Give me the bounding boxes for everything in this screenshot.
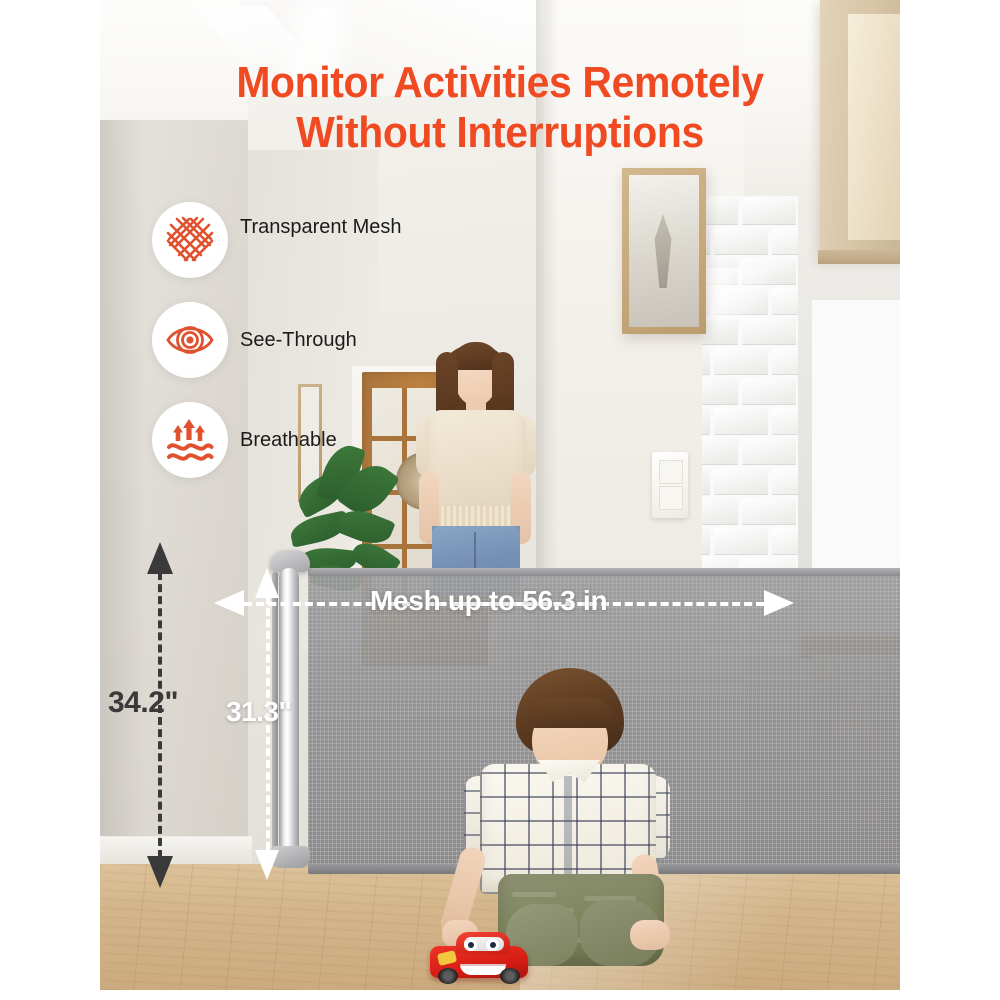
dimension-mesh-height-label: 31.3" xyxy=(226,696,291,728)
feature-breathable: Breathable xyxy=(152,402,412,502)
arrow-left-icon xyxy=(214,590,244,616)
woman-standing xyxy=(400,330,550,595)
boy-sitting xyxy=(420,668,720,968)
dimension-total-height-label: 34.2" xyxy=(108,686,178,720)
tile-gloss-highlight xyxy=(702,268,798,320)
mesh-grid-icon xyxy=(152,202,228,278)
product-marketing-image: Monitor Activities Remotely Without Inte… xyxy=(0,0,1000,1000)
feature-transparent-mesh: Transparent Mesh xyxy=(152,202,412,302)
arrow-right-icon xyxy=(764,590,794,616)
pants-fold xyxy=(512,892,556,897)
headline-line-1: Monitor Activities Remotely xyxy=(236,58,763,107)
arrow-down-icon xyxy=(147,856,173,888)
feature-label: Transparent Mesh xyxy=(240,214,420,240)
upper-cabinet-bottom xyxy=(818,250,900,264)
eye-icon xyxy=(152,302,228,378)
feature-list: Transparent Mesh See-Through xyxy=(152,202,412,502)
arrow-down-icon xyxy=(255,850,279,880)
breathable-icon xyxy=(152,402,228,478)
gate-top-rail xyxy=(308,568,900,576)
headline-line-2: Without Interruptions xyxy=(35,108,965,158)
light-switch-plate xyxy=(652,452,688,518)
page-title: Monitor Activities Remotely Without Inte… xyxy=(35,58,965,158)
dimension-mesh-width-label: Mesh up to 56.3 in xyxy=(370,585,607,617)
feature-label: Breathable xyxy=(240,427,420,453)
feature-label: See-Through xyxy=(240,327,420,353)
red-toy-car xyxy=(430,932,528,984)
feature-see-through: See-Through xyxy=(152,302,412,402)
arrow-up-icon xyxy=(147,542,173,574)
